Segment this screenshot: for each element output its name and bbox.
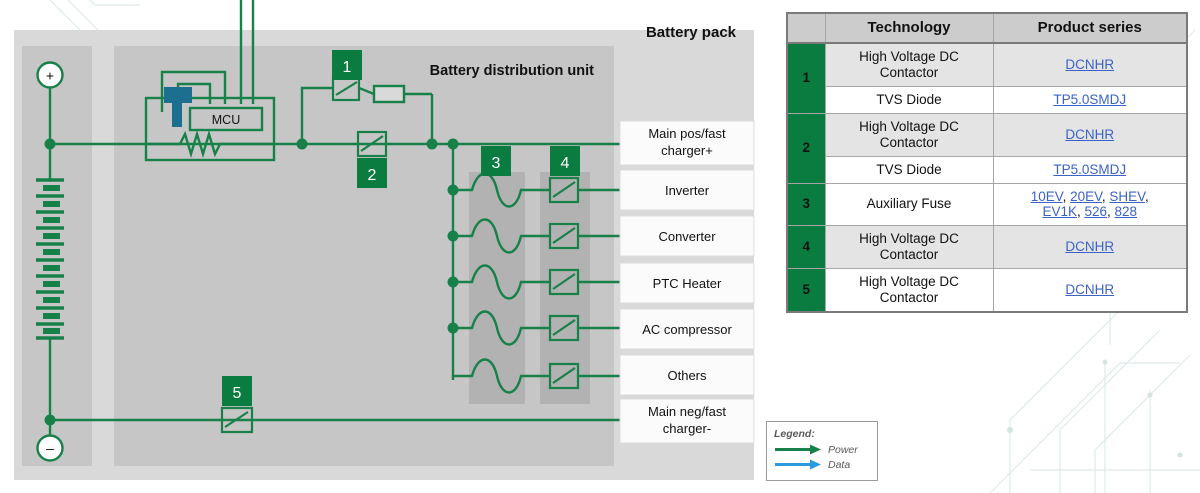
svg-text:3: 3 [492, 155, 501, 172]
badge-3[interactable]: 3 [481, 146, 511, 176]
output-label-others: Others [620, 355, 754, 395]
svg-text:–: – [46, 440, 54, 456]
bdu-title: Battery distribution unit [430, 63, 595, 79]
data-arrow-icon [774, 459, 822, 470]
product-link[interactable]: TP5.0SMDJ [1053, 162, 1126, 177]
badge-4[interactable]: 4 [550, 146, 580, 176]
badge-2[interactable]: 2 [357, 158, 387, 188]
row-technology: High Voltage DC Contactor [825, 226, 993, 269]
svg-text:Converter: Converter [658, 229, 716, 244]
product-link[interactable]: DCNHR [1065, 282, 1114, 297]
header-product-series: Product series [993, 13, 1187, 43]
product-link[interactable]: DCNHR [1065, 127, 1114, 142]
output-label-inverter: Inverter [620, 170, 754, 210]
svg-text:1: 1 [343, 59, 352, 76]
svg-text:Inverter: Inverter [665, 183, 710, 198]
row-technology: High Voltage DC Contactor [825, 113, 993, 156]
output-label-ptc-heater: PTC Heater [620, 263, 754, 303]
row-technology: TVS Diode [825, 86, 993, 113]
power-arrow-icon [774, 444, 822, 455]
row-series: DCNHR [993, 113, 1187, 156]
contactor-group-box [540, 172, 590, 404]
precharge-resistor [374, 86, 404, 102]
row-number-5: 5 [787, 269, 825, 312]
battery-pack-title: Battery pack [646, 24, 737, 41]
diagram-svg: Battery pack Battery distribution unit [0, 0, 768, 493]
row-number-1: 1 [787, 43, 825, 113]
row-number-3: 3 [787, 183, 825, 226]
svg-text:charger+: charger+ [661, 143, 713, 158]
page-root: Battery pack Battery distribution unit [0, 0, 1200, 493]
header-technology: Technology [825, 13, 993, 43]
table-row: 2 High Voltage DC Contactor DCNHR [787, 113, 1187, 156]
cell-stack-box [22, 46, 92, 466]
header-number [787, 13, 825, 43]
svg-text:2: 2 [368, 167, 377, 184]
svg-text:Others: Others [667, 368, 707, 383]
row-technology: Auxiliary Fuse [825, 183, 993, 226]
legend-item-data: Data [774, 457, 870, 472]
terminal-positive: + [38, 63, 63, 88]
table-row: 1 High Voltage DC Contactor DCNHR [787, 43, 1187, 86]
svg-text:Main neg/fast: Main neg/fast [648, 404, 726, 419]
table-body: 1 High Voltage DC Contactor DCNHR TVS Di… [787, 43, 1187, 312]
legend-label-data: Data [828, 459, 850, 471]
table-header-row: Technology Product series [787, 13, 1187, 43]
product-link[interactable]: SHEV [1109, 189, 1145, 204]
row-series: TP5.0SMDJ [993, 86, 1187, 113]
table-row: 4 High Voltage DC Contactor DCNHR [787, 226, 1187, 269]
terminal-negative: – [38, 436, 63, 461]
svg-text:4: 4 [561, 155, 570, 172]
product-link[interactable]: TP5.0SMDJ [1053, 92, 1126, 107]
svg-text:PTC Heater: PTC Heater [653, 276, 722, 291]
product-link[interactable]: 828 [1115, 204, 1138, 219]
row-technology: High Voltage DC Contactor [825, 269, 993, 312]
svg-text:5: 5 [233, 385, 242, 402]
product-link[interactable]: EV1K [1042, 204, 1077, 219]
row-series: DCNHR [993, 226, 1187, 269]
output-label-main-neg: Main neg/fast charger- [620, 399, 754, 443]
table-row: 3 Auxiliary Fuse 10EV, 20EV, SHEV, EV1K,… [787, 183, 1187, 226]
output-label-main-pos: Main pos/fast charger+ [620, 121, 754, 165]
row-technology: High Voltage DC Contactor [825, 43, 993, 86]
product-link[interactable]: 20EV [1070, 189, 1102, 204]
row-number-4: 4 [787, 226, 825, 269]
product-link[interactable]: 526 [1084, 204, 1107, 219]
fuse-group-box [469, 172, 525, 404]
legend-box: Legend: Power Data [766, 421, 878, 481]
svg-text:AC compressor: AC compressor [642, 322, 732, 337]
svg-text:charger-: charger- [663, 421, 711, 436]
technology-table: Technology Product series 1 High Voltage… [786, 12, 1188, 313]
row-technology: TVS Diode [825, 156, 993, 183]
legend-item-power: Power [774, 442, 870, 457]
mcu-label: MCU [212, 113, 240, 127]
battery-pack-diagram: Battery pack Battery distribution unit [0, 0, 768, 493]
product-link[interactable]: DCNHR [1065, 57, 1114, 72]
row-number-2: 2 [787, 113, 825, 183]
row-series: DCNHR [993, 43, 1187, 86]
legend-title: Legend: [774, 428, 870, 440]
svg-text:Main pos/fast: Main pos/fast [648, 126, 726, 141]
row-series: TP5.0SMDJ [993, 156, 1187, 183]
row-series: DCNHR [993, 269, 1187, 312]
table-row: TVS Diode TP5.0SMDJ [787, 156, 1187, 183]
output-label-converter: Converter [620, 216, 754, 256]
product-link[interactable]: 10EV [1031, 189, 1063, 204]
table-row: 5 High Voltage DC Contactor DCNHR [787, 269, 1187, 312]
badge-5[interactable]: 5 [222, 376, 252, 406]
table-row: TVS Diode TP5.0SMDJ [787, 86, 1187, 113]
svg-text:+: + [46, 68, 54, 84]
output-label-ac-compressor: AC compressor [620, 309, 754, 349]
product-link[interactable]: DCNHR [1065, 239, 1114, 254]
row-series: 10EV, 20EV, SHEV, EV1K, 526, 828 [993, 183, 1187, 226]
legend-label-power: Power [828, 444, 858, 456]
badge-1[interactable]: 1 [332, 50, 362, 80]
